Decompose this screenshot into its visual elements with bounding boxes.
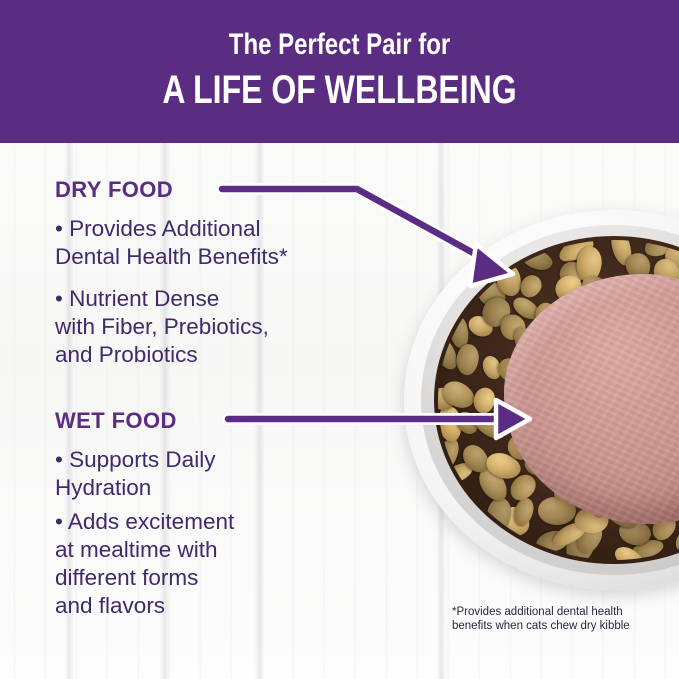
- header-title-line-2: A LIFE OF WELLBEING: [68, 68, 611, 112]
- header-title-line-1: The Perfect Pair for: [68, 28, 611, 62]
- dry-food-heading: DRY FOOD: [55, 177, 173, 203]
- cat-food-bowl-image: [404, 210, 679, 590]
- kibble-piece: [470, 385, 497, 416]
- dry-food-bullet-2: • Nutrient Dense with Fiber, Prebiotics,…: [55, 285, 385, 369]
- wet-food-bullet-2: • Adds excitement at mealtime with diffe…: [55, 508, 385, 620]
- wet-food-heading: WET FOOD: [55, 408, 177, 434]
- wet-food-bullet-1: • Supports Daily Hydration: [55, 446, 385, 502]
- dry-food-bullet-1: • Provides Additional Dental Health Bene…: [55, 215, 385, 271]
- promo-image: The Perfect Pair for A LIFE OF WELLBEING…: [0, 0, 679, 679]
- footnote-disclaimer: *Provides additional dental health benef…: [452, 605, 667, 633]
- kibble-piece: [455, 343, 481, 377]
- header-banner: The Perfect Pair for A LIFE OF WELLBEING: [0, 0, 679, 143]
